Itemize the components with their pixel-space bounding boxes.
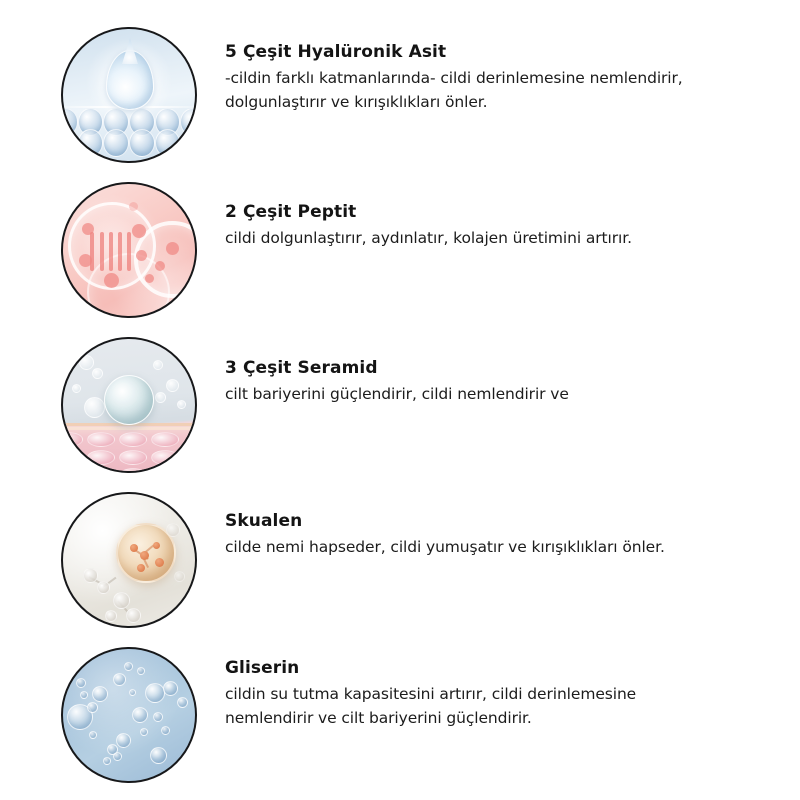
- skin-cell: [87, 450, 115, 465]
- golden-squalane-sphere-photo: [61, 492, 197, 628]
- ingredient-copy-hyaluronik-asit: 5 Çeşit Hyalüronik Asit -cildin farklı k…: [225, 41, 725, 114]
- bubble-decor: [180, 129, 195, 157]
- chain-rung: [127, 232, 131, 272]
- ingredient-description: -cildin farklı katmanlarında- cildi deri…: [225, 66, 725, 114]
- swatch-art-layer: [63, 649, 195, 781]
- molecule-node: [166, 523, 180, 537]
- skin-cells-decor: [63, 429, 195, 471]
- barrier-line-decor: [63, 427, 195, 430]
- bubble-decor: [79, 355, 94, 370]
- chain-rung: [100, 232, 104, 272]
- molecule-node: [174, 571, 185, 582]
- bubble-decor: [72, 384, 81, 393]
- ceramide-droplet-icon: [104, 375, 154, 425]
- bubble-decor: [76, 678, 86, 688]
- bubble-decor: [166, 379, 179, 392]
- molecule-node: [166, 242, 179, 255]
- ingredient-title: 3 Çeşit Seramid: [225, 357, 725, 379]
- bubble-decor: [140, 728, 148, 736]
- molecule-node: [79, 254, 92, 267]
- bubble-decor: [163, 681, 178, 696]
- peptide-chain-icon: [87, 232, 145, 272]
- molecule-node: [82, 223, 94, 235]
- bubble-decor: [84, 397, 105, 418]
- molecule-node: [132, 224, 146, 238]
- chain-rung: [118, 232, 122, 272]
- molecule-node: [105, 610, 117, 622]
- molecule-node: [97, 581, 110, 594]
- bubble-decor: [150, 747, 167, 764]
- ingredient-copy-skualen: Skualen cilde nemi hapseder, cildi yumuş…: [225, 510, 725, 559]
- bubble-decor: [129, 689, 136, 696]
- bubble-decor: [161, 726, 170, 735]
- bubble-decor: [113, 752, 122, 761]
- skin-cell: [87, 432, 115, 447]
- ingredient-image-skualen: [61, 492, 197, 628]
- skin-cell: [151, 450, 179, 465]
- droplet-on-skin-layers-photo: [61, 337, 197, 473]
- skin-cell: [151, 432, 179, 447]
- ingredient-copy-gliserin: Gliserin cildin su tutma kapasitesini ar…: [225, 657, 725, 730]
- bubble-decor: [92, 368, 103, 379]
- ingredient-description: cilde nemi hapseder, cildi yumuşatır ve …: [225, 535, 725, 559]
- bubble-decor: [103, 129, 129, 157]
- molecule-node: [155, 558, 164, 567]
- skin-cell: [63, 432, 83, 447]
- ingredient-image-gliserin: [61, 647, 197, 783]
- ingredient-row-skualen: Skualen cilde nemi hapseder, cildi yumuş…: [0, 490, 800, 645]
- ingredient-row-hyaluronik-asit: 5 Çeşit Hyalüronik Asit -cildin farklı k…: [0, 25, 800, 180]
- ingredient-title: 5 Çeşit Hyalüronik Asit: [225, 41, 725, 63]
- bubble-decor: [145, 683, 165, 703]
- bubble-decor: [177, 697, 188, 708]
- water-droplet-over-bubbles-photo: [61, 27, 197, 163]
- bubble-decor: [89, 731, 97, 739]
- bubble-decor: [155, 392, 166, 403]
- bubble-decor: [153, 712, 163, 722]
- bubble-decor: [103, 757, 111, 765]
- bubble-decor: [78, 129, 104, 157]
- bubble-decor: [116, 733, 131, 748]
- bubble-decor: [124, 662, 133, 671]
- bubble-decor: [113, 673, 126, 686]
- skin-cell: [119, 468, 147, 471]
- ingredient-image-seramid: [61, 337, 197, 473]
- molecule-node: [137, 564, 145, 572]
- ingredient-description: cildi dolgunlaştırır, aydınlatır, kolaje…: [225, 226, 725, 250]
- ingredient-description: cildin su tutma kapasitesini artırır, ci…: [225, 682, 725, 730]
- molecule-node: [136, 250, 147, 261]
- bubble-decor: [155, 129, 181, 157]
- molecule-node: [155, 261, 165, 271]
- skin-cell: [87, 468, 115, 471]
- pink-peptide-molecule-photo: [61, 182, 197, 318]
- chain-rung: [90, 232, 94, 272]
- molecule-node: [145, 274, 154, 283]
- bubble-decor: [129, 129, 155, 157]
- ingredient-row-gliserin: Gliserin cildin su tutma kapasitesini ar…: [0, 645, 800, 800]
- skin-cell: [119, 432, 147, 447]
- molecule-node: [126, 608, 141, 623]
- bubble-decor: [92, 686, 108, 702]
- bubble-decor: [153, 360, 163, 370]
- molecule-node: [113, 592, 130, 609]
- bubble-decor: [63, 129, 78, 157]
- ingredient-title: 2 Çeşit Peptit: [225, 201, 725, 223]
- ingredient-row-seramid: 3 Çeşit Seramid cilt bariyerini güçlendi…: [0, 335, 800, 490]
- ingredient-title: Skualen: [225, 510, 725, 532]
- ingredient-row-peptit: 2 Çeşit Peptit cildi dolgunlaştırır, ayd…: [0, 180, 800, 335]
- chain-rung: [109, 232, 113, 272]
- skin-cell: [151, 468, 179, 471]
- ingredient-image-hyaluronik-asit: [61, 27, 197, 163]
- skin-cell: [63, 450, 83, 465]
- bubble-decor: [132, 707, 148, 723]
- ingredient-copy-peptit: 2 Çeşit Peptit cildi dolgunlaştırır, ayd…: [225, 201, 725, 250]
- bubble-bed-row-2: [63, 129, 195, 157]
- bubble-decor: [80, 691, 88, 699]
- swatch-art-layer: [63, 339, 195, 471]
- molecule-node: [104, 273, 119, 288]
- ingredient-image-peptit: [61, 182, 197, 318]
- bubble-decor: [177, 400, 186, 409]
- ingredient-title: Gliserin: [225, 657, 725, 679]
- skin-cell: [119, 450, 147, 465]
- bubble-decor: [137, 667, 145, 675]
- bubble-decor: [87, 702, 98, 713]
- swatch-art-layer: [63, 29, 195, 161]
- ingredient-description: cilt bariyerini güçlendirir, cildi nemle…: [225, 382, 725, 406]
- molecule-node: [153, 542, 160, 549]
- skin-cell: [63, 468, 83, 471]
- blue-water-bubbles-photo: [61, 647, 197, 783]
- ingredients-infographic: 5 Çeşit Hyalüronik Asit -cildin farklı k…: [0, 0, 800, 800]
- molecule-node: [83, 568, 98, 583]
- molecule-node: [140, 551, 149, 560]
- swatch-art-layer: [63, 494, 195, 626]
- swatch-art-layer: [63, 184, 195, 316]
- ingredient-copy-seramid: 3 Çeşit Seramid cilt bariyerini güçlendi…: [225, 357, 725, 406]
